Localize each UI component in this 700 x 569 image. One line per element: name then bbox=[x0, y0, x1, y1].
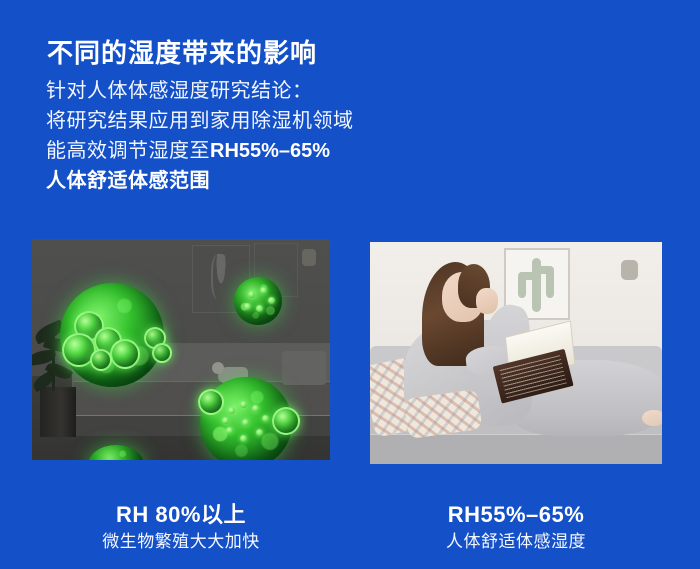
microbe-blob bbox=[198, 389, 224, 415]
body-copy: 针对人体体感湿度研究结论： 将研究结果应用到家用除湿机领域 能高效调节湿度至RH… bbox=[46, 76, 354, 196]
person-foot bbox=[642, 410, 662, 426]
microbe-spike bbox=[228, 407, 235, 414]
microbe-blob bbox=[152, 343, 172, 363]
bright-room-scene bbox=[370, 242, 662, 464]
microbe-blob bbox=[110, 339, 140, 369]
microbe-spike bbox=[252, 405, 259, 412]
wall-knob bbox=[621, 260, 638, 280]
microbe-spike bbox=[244, 303, 251, 310]
caption-subtitle: 人体舒适体感湿度 bbox=[370, 529, 662, 555]
microbe-spike bbox=[260, 287, 267, 294]
sofa-base bbox=[370, 434, 662, 464]
body-line-2: 将研究结果应用到家用除湿机领域 bbox=[46, 106, 354, 136]
microbe-blob bbox=[90, 349, 112, 371]
body-line-3-prefix: 能高效调节湿度至 bbox=[46, 140, 210, 162]
caption-subtitle: 微生物繁殖大大加快 bbox=[32, 529, 330, 555]
cactus-shape bbox=[536, 266, 552, 274]
cactus-shape bbox=[518, 272, 538, 280]
humidity-infographic-poster: 不同的湿度带来的影响 针对人体体感湿度研究结论： 将研究结果应用到家用除湿机领域… bbox=[0, 0, 700, 569]
caption-high-humidity: RH 80%以上 微生物繁殖大大加快 bbox=[32, 501, 330, 555]
microbe-spike bbox=[240, 401, 247, 408]
microbe-spike bbox=[240, 435, 247, 442]
wall-knob bbox=[302, 249, 316, 266]
photo-high-humidity bbox=[32, 239, 330, 460]
microbe-spike bbox=[222, 417, 229, 424]
microbe-spike bbox=[226, 427, 233, 434]
body-line-4: 人体舒适体感范围 bbox=[46, 166, 354, 196]
sofa-cushion bbox=[282, 351, 326, 385]
caption-comfort-humidity: RH55%–65% 人体舒适体感湿度 bbox=[370, 501, 662, 555]
plant-pot bbox=[40, 387, 76, 437]
body-line-3: 能高效调节湿度至RH55%–65% bbox=[46, 136, 354, 166]
caption-title: RH55%–65% bbox=[370, 501, 662, 529]
caption-title: RH 80%以上 bbox=[32, 501, 330, 529]
microbe-spike bbox=[268, 297, 275, 304]
plant-stem bbox=[52, 335, 55, 391]
microbe-spike bbox=[256, 305, 263, 312]
humidity-range-highlight: RH55%–65% bbox=[210, 140, 330, 162]
microbe-spike bbox=[262, 415, 269, 422]
page-title: 不同的湿度带来的影响 bbox=[47, 37, 317, 70]
microbe-spike bbox=[242, 419, 249, 426]
photo-comfort-humidity bbox=[370, 242, 662, 464]
microbe-spike bbox=[248, 291, 255, 298]
body-line-1: 针对人体体感湿度研究结论： bbox=[46, 76, 354, 106]
microbe-blob bbox=[272, 407, 300, 435]
microbe-spike bbox=[256, 429, 263, 436]
person-hand bbox=[476, 288, 498, 314]
dark-room-scene bbox=[32, 239, 330, 460]
